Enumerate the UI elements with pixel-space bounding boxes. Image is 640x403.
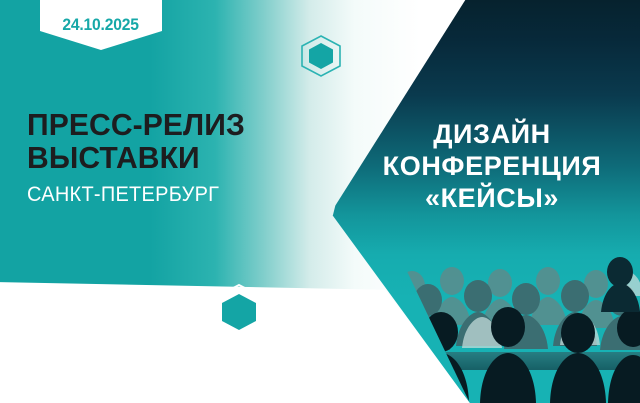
right-headline-line-1: ДИЗАЙН xyxy=(352,118,632,150)
press-release-banner: 24.10.2025 ПРЕСС-РЕЛИЗ ВЫСТАВКИ САНКТ-ПЕ… xyxy=(0,0,640,403)
left-headline-line-1: ПРЕСС-РЕЛИЗ xyxy=(27,108,318,141)
right-headline-line-3: «КЕЙСЫ» xyxy=(352,182,632,214)
right-headline-line-2: КОНФЕРЕНЦИЯ xyxy=(352,150,632,182)
date-badge-text: 24.10.2025 xyxy=(63,15,139,35)
hexagon-badge-white-outline-icon xyxy=(208,283,270,341)
left-subtitle-city: САНКТ-ПЕТЕРБУРГ xyxy=(27,183,312,206)
right-copy-block: ДИЗАЙН КОНФЕРЕНЦИЯ «КЕЙСЫ» xyxy=(352,118,632,214)
left-headline-line-2: ВЫСТАВКИ xyxy=(27,141,318,174)
left-copy-block: ПРЕСС-РЕЛИЗ ВЫСТАВКИ САНКТ-ПЕТЕРБУРГ xyxy=(27,108,327,206)
hexagon-badge-teal-outline-icon xyxy=(298,34,344,78)
